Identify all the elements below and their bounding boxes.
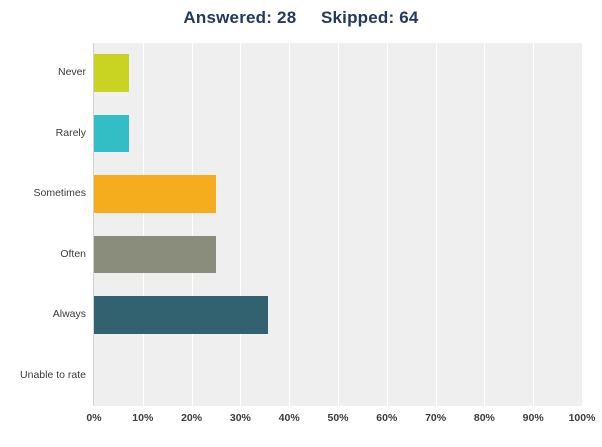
x-tick-label-0%: 0% [86, 412, 101, 424]
bar-row [94, 115, 582, 153]
bar-row [94, 296, 582, 334]
chart-title: Answered: 28 Skipped: 64 [0, 8, 602, 28]
bar-row [94, 54, 582, 92]
x-tick-label-100%: 100% [569, 412, 596, 424]
x-tick-label-10%: 10% [132, 412, 153, 424]
gridline-40% [289, 43, 290, 406]
gridline-60% [387, 43, 388, 406]
gridline-10% [143, 43, 144, 406]
gridline-20% [192, 43, 193, 406]
survey-bar-chart: Answered: 28 Skipped: 64 NeverRarelySome… [0, 0, 602, 447]
bar-row [94, 357, 582, 395]
gridline-50% [338, 43, 339, 406]
x-tick-label-60%: 60% [376, 412, 397, 424]
x-tick-label-90%: 90% [523, 412, 544, 424]
bar-row [94, 175, 582, 213]
bar-always[interactable] [94, 296, 268, 334]
gridline-30% [240, 43, 241, 406]
x-tick-label-70%: 70% [425, 412, 446, 424]
bar-rarely[interactable] [94, 115, 129, 153]
y-tick-label-unable-to-rate: Unable to rate [0, 369, 86, 381]
y-axis-tick-labels: NeverRarelySometimesOftenAlwaysUnable to… [0, 43, 86, 406]
x-axis-tick-labels: 0%10%20%30%40%50%60%70%80%90%100% [94, 412, 582, 432]
bar-never[interactable] [94, 54, 129, 92]
plot-area [94, 43, 582, 406]
gridline-70% [436, 43, 437, 406]
y-tick-label-always: Always [0, 308, 86, 320]
plot-wrapper [94, 43, 582, 406]
gridline-90% [533, 43, 534, 406]
y-tick-label-often: Often [0, 248, 86, 260]
gridline-80% [484, 43, 485, 406]
x-tick-label-50%: 50% [327, 412, 348, 424]
bar-row [94, 236, 582, 274]
x-tick-label-80%: 80% [474, 412, 495, 424]
bar-often[interactable] [94, 236, 216, 274]
bar-sometimes[interactable] [94, 175, 216, 213]
y-tick-label-sometimes: Sometimes [0, 187, 86, 199]
x-tick-label-20%: 20% [181, 412, 202, 424]
y-tick-label-rarely: Rarely [0, 127, 86, 139]
x-tick-label-30%: 30% [230, 412, 251, 424]
x-tick-label-40%: 40% [279, 412, 300, 424]
y-tick-label-never: Never [0, 66, 86, 78]
